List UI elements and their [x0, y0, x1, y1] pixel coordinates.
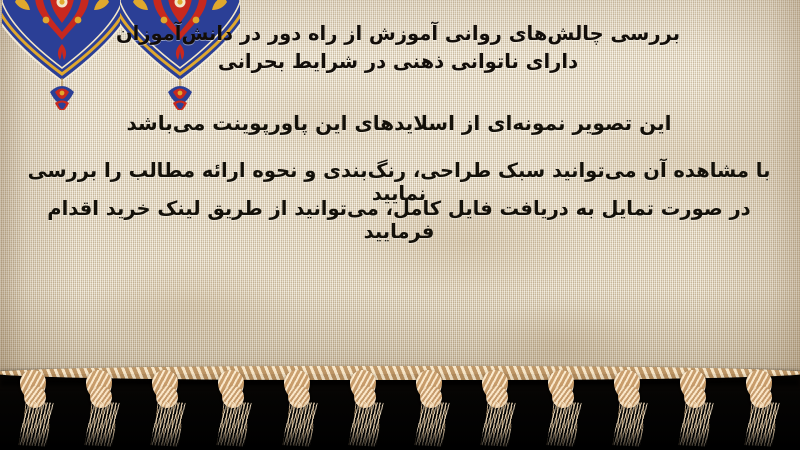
slide-canvas: بررسی چالش‌های روانی آموزش از راه دور در… — [0, 0, 800, 450]
slide-text-layer: بررسی چالش‌های روانی آموزش از راه دور در… — [0, 0, 800, 450]
slide-body-line-1: این تصویر نمونه‌ای از اسلایدهای این پاور… — [18, 111, 780, 135]
slide-title-line-1: بررسی چالش‌های روانی آموزش از راه دور در… — [20, 20, 776, 48]
slide-title-line-2: دارای ناتوانی ذهنی در شرایط بحرانی — [20, 48, 776, 76]
slide-body-line-3: در صورت تمایل به دریافت فایل کامل، می‌تو… — [18, 197, 780, 243]
